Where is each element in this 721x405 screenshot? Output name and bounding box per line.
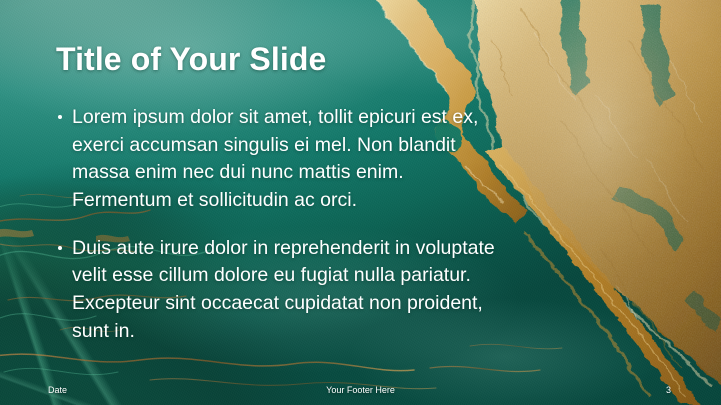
slide-canvas: Title of Your Slide Lorem ipsum dolor si… xyxy=(0,0,721,405)
list-item[interactable]: Duis aute irure dolor in reprehenderit i… xyxy=(56,235,496,346)
bullet-icon xyxy=(58,246,62,250)
list-item[interactable]: Lorem ipsum dolor sit amet, tollit epicu… xyxy=(56,104,496,215)
bullet-list: Lorem ipsum dolor sit amet, tollit epicu… xyxy=(56,104,496,346)
slide-content: Title of Your Slide Lorem ipsum dolor si… xyxy=(0,0,721,405)
page-title[interactable]: Title of Your Slide xyxy=(56,42,576,77)
footer-text[interactable]: Your Footer Here xyxy=(0,385,721,395)
bullet-text: Duis aute irure dolor in reprehenderit i… xyxy=(72,237,495,342)
bullet-text: Lorem ipsum dolor sit amet, tollit epicu… xyxy=(72,106,478,211)
slide-number[interactable]: 3 xyxy=(666,385,671,395)
bullet-icon xyxy=(58,115,62,119)
